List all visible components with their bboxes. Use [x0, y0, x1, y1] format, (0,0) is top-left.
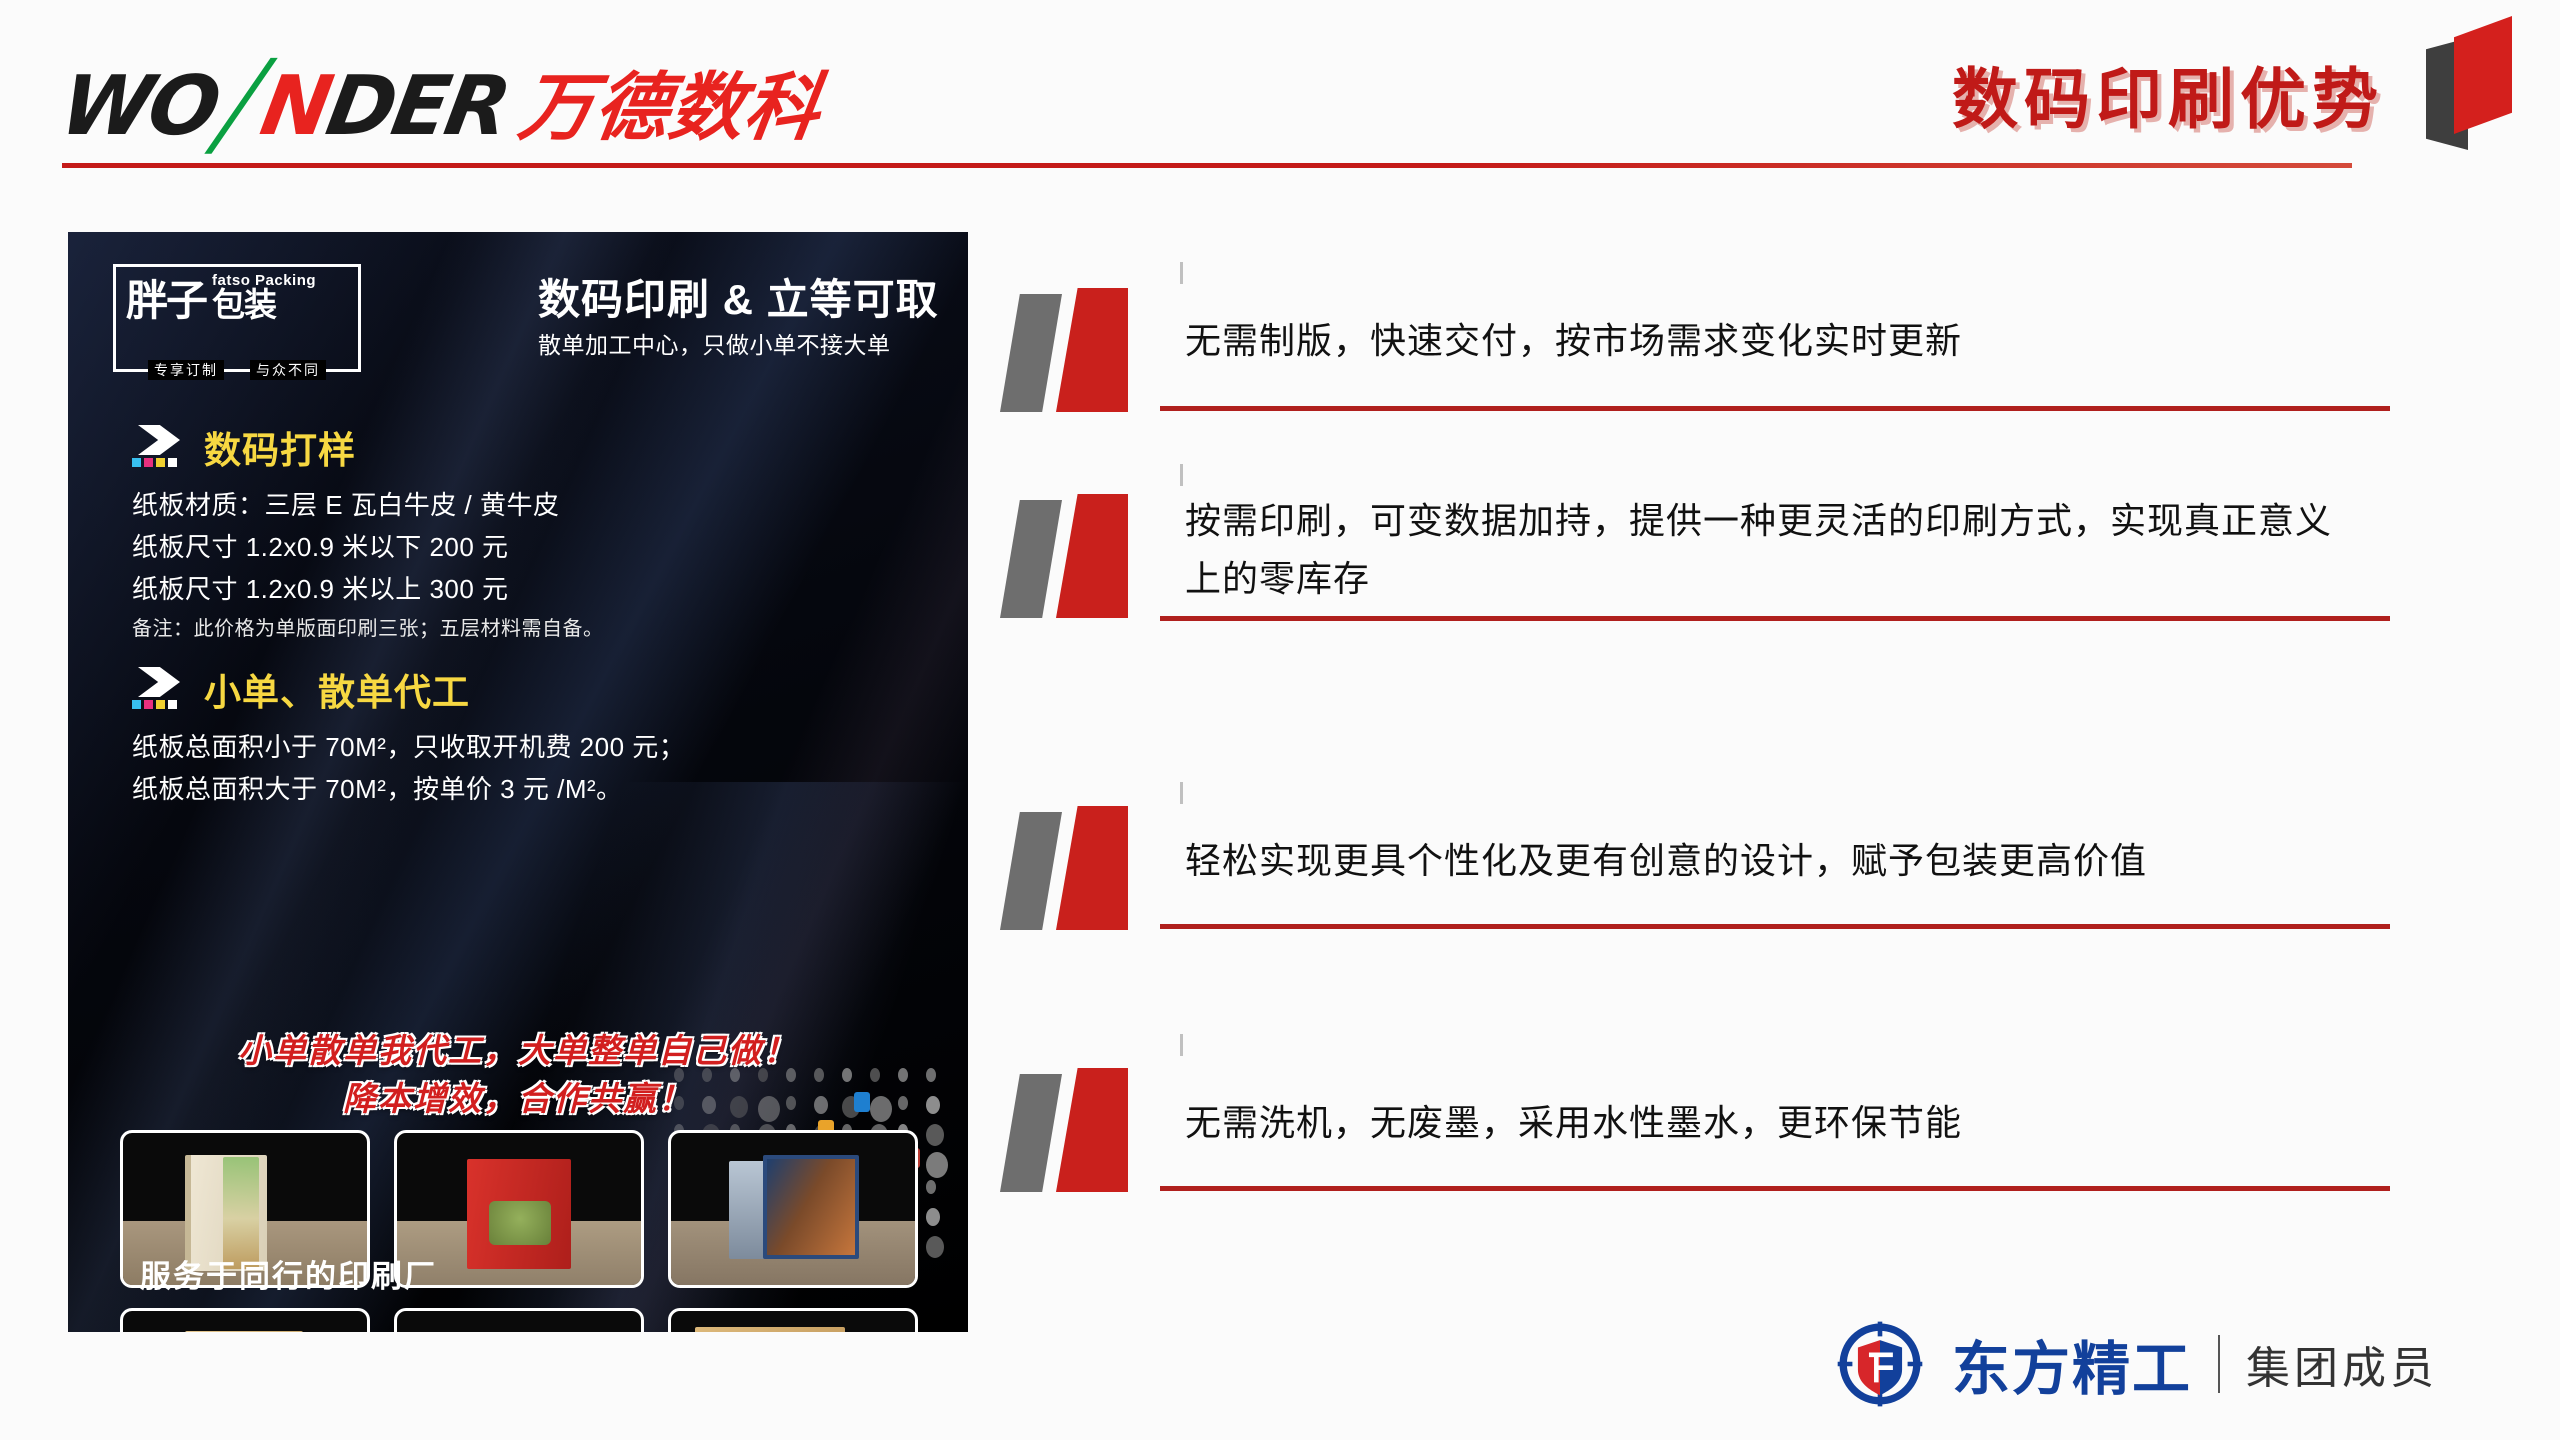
- poster-section-2-title-row: 小单、散单代工: [132, 662, 685, 716]
- advantage-item-1: 无需制版，快速交付，按市场需求变化实时更新: [1000, 240, 2400, 420]
- poster-section-1-title-row: 数码打样: [132, 420, 604, 474]
- poster-section-1-line-1: 纸板材质：三层 E 瓦白牛皮 / 黄牛皮: [132, 484, 604, 526]
- brand-logo: WO╱NDER 万德数科: [62, 52, 820, 148]
- photo-box-body: [695, 1327, 845, 1332]
- wonder-wordmark: WO╱NDER: [55, 66, 514, 148]
- group-member-logo: 东方精工 集团成员: [1834, 1318, 2438, 1410]
- halftone-dot: [870, 1068, 880, 1082]
- poster-section-1-note: 备注：此价格为单版面印刷三张；五层材料需自备。: [132, 610, 604, 648]
- advantage-item-4: 无需洗机，无废墨，采用水性墨水，更环保节能: [1000, 1012, 2400, 1232]
- photo-box-art: [489, 1201, 551, 1245]
- halftone-dot: [702, 1068, 712, 1082]
- chevron-icon: [132, 667, 188, 711]
- photo-box-body: [185, 1331, 303, 1332]
- advantage-underline-2: [1160, 616, 2390, 621]
- fatso-logo-cn2: 包装: [212, 288, 316, 322]
- chevron-dot-yellow: [156, 700, 165, 709]
- chevron-icon: [132, 425, 188, 469]
- bullet-gray-shape: [1000, 500, 1062, 618]
- fatso-logo-right: fatso Packing 包装: [212, 273, 316, 322]
- advantage-text-3: 轻松实现更具个性化及更有创意的设计，赋予包装更高价值: [1185, 832, 2365, 890]
- advantage-underline-1: [1160, 406, 2390, 411]
- advantage-text-2: 按需印刷，可变数据加持，提供一种更灵活的印刷方式，实现真正意义上的零库存: [1185, 492, 2365, 608]
- halftone-dot: [870, 1096, 892, 1122]
- chevron-arrow: [138, 425, 180, 455]
- poster-section-1-title: 数码打样: [204, 420, 356, 474]
- halftone-dot: [702, 1096, 716, 1114]
- halftone-dot: [786, 1096, 796, 1110]
- fatso-logo-main: 胖子 fatso Packing 包装: [126, 273, 350, 322]
- photo-box-front: [763, 1155, 859, 1259]
- advantage-text-4: 无需洗机，无废墨，采用水性墨水，更环保节能: [1185, 1094, 2365, 1152]
- advantages-list: 无需制版，快速交付，按市场需求变化实时更新 按需印刷，可变数据加持，提供一种更灵…: [1000, 240, 2400, 1260]
- poster-section-2-title: 小单、散单代工: [204, 662, 470, 716]
- halftone-dot: [758, 1068, 768, 1082]
- chevron-dot-white: [168, 458, 177, 467]
- bullet-red-shape: [1056, 1068, 1128, 1192]
- chevron-dot-cyan: [132, 458, 141, 467]
- fatso-packing-logo: 胖子 fatso Packing 包装 专享订制 与众不同: [113, 264, 361, 372]
- advantage-item-2: 按需印刷，可变数据加持，提供一种更灵活的印刷方式，实现真正意义上的零库存: [1000, 448, 2400, 718]
- promo-poster-image: 胖子 fatso Packing 包装 专享订制 与众不同 数码印刷 & 立等可…: [68, 232, 968, 1332]
- poster-section-proofing: 数码打样 纸板材质：三层 E 瓦白牛皮 / 黄牛皮 纸板尺寸 1.2x0.9 米…: [132, 420, 604, 648]
- halftone-dot: [926, 1096, 940, 1114]
- advantage-item-3: 轻松实现更具个性化及更有创意的设计，赋予包装更高价值: [1000, 746, 2400, 984]
- poster-section-2-lines: 纸板总面积小于 70M²，只收取开机费 200 元； 纸板总面积大于 70M²，…: [132, 726, 685, 810]
- chevron-dot-magenta: [144, 458, 153, 467]
- halftone-dot: [674, 1068, 684, 1082]
- dongfang-jinggong-icon: [1834, 1318, 1926, 1410]
- corner-red-shape: [2454, 16, 2512, 134]
- halftone-dot: [926, 1124, 944, 1146]
- dongfang-jinggong-name: 东方精工: [1952, 1322, 2192, 1406]
- product-photo-kraft-handle-box: [120, 1308, 370, 1332]
- bullet-red-shape: [1056, 806, 1128, 930]
- bullet-chevron-icon: [1000, 1068, 1170, 1196]
- chevron-dot-white: [168, 700, 177, 709]
- tick-marker: [1180, 464, 1183, 486]
- halftone-dot: [814, 1096, 828, 1114]
- footer-divider: [2218, 1335, 2220, 1393]
- poster-section-oem: 小单、散单代工 纸板总面积小于 70M²，只收取开机费 200 元； 纸板总面积…: [132, 662, 685, 810]
- halftone-dot: [926, 1208, 940, 1226]
- product-photo-grid: [120, 1130, 920, 1332]
- bullet-red-shape: [1056, 288, 1128, 412]
- bullet-gray-shape: [1000, 812, 1062, 930]
- page-title: 数码印刷优势: [1952, 46, 2384, 142]
- poster-subheadline: 散单加工中心，只做小单不接大单: [538, 326, 939, 364]
- bullet-chevron-icon: [1000, 288, 1170, 416]
- product-photo-row: [120, 1308, 920, 1332]
- advantage-underline-3: [1160, 924, 2390, 929]
- group-member-label: 集团成员: [2246, 1332, 2438, 1396]
- chevron-dot-yellow: [156, 458, 165, 467]
- product-photo-classic-boxes: [394, 1308, 644, 1332]
- advantage-underline-4: [1160, 1186, 2390, 1191]
- bullet-chevron-icon: [1000, 806, 1170, 934]
- halftone-dot: [926, 1068, 936, 1082]
- bullet-red-shape: [1056, 494, 1128, 618]
- fatso-tag-right: 与众不同: [250, 360, 326, 380]
- bullet-gray-shape: [1000, 1074, 1062, 1192]
- halftone-dot: [898, 1068, 908, 1082]
- wonder-wo: WO: [54, 59, 225, 154]
- fatso-logo-tags: 专享订制 与众不同: [116, 360, 358, 380]
- halftone-dot: [814, 1068, 824, 1082]
- halftone-dot: [926, 1152, 948, 1178]
- halftone-dot: [926, 1180, 936, 1194]
- corner-decoration-icon: [2426, 0, 2536, 160]
- poster-section-1-lines: 纸板材质：三层 E 瓦白牛皮 / 黄牛皮 纸板尺寸 1.2x0.9 米以下 20…: [132, 484, 604, 648]
- halftone-dot: [674, 1096, 684, 1110]
- tick-marker: [1180, 782, 1183, 804]
- product-photo-beef-carton: [668, 1130, 918, 1288]
- fatso-tag-left: 专享订制: [148, 360, 224, 380]
- poster-section-2-line-1: 纸板总面积小于 70M²，只收取开机费 200 元；: [132, 726, 685, 768]
- halftone-dot: [926, 1236, 944, 1258]
- halftone-dot: [786, 1068, 796, 1082]
- poster-section-1-line-2: 纸板尺寸 1.2x0.9 米以下 200 元: [132, 526, 604, 568]
- tick-marker: [1180, 262, 1183, 284]
- brand-cn-wordmark: 万德数科: [515, 68, 826, 148]
- poster-headline-group: 数码印刷 & 立等可取 散单加工中心，只做小单不接大单: [538, 274, 939, 364]
- wonder-der: DER: [320, 59, 515, 154]
- advantage-text-1: 无需制版，快速交付，按市场需求变化实时更新: [1185, 312, 2365, 370]
- halftone-dot: [730, 1096, 748, 1118]
- fatso-logo-cn: 胖子: [126, 280, 206, 322]
- bullet-chevron-icon: [1000, 494, 1170, 622]
- poster-footer-text: 服务于同行的印刷厂: [140, 1251, 437, 1296]
- product-photo-large-scenery-carton: [668, 1308, 918, 1332]
- halftone-dot: [898, 1096, 908, 1110]
- poster-section-1-line-3: 纸板尺寸 1.2x0.9 米以上 300 元: [132, 568, 604, 610]
- halftone-dot: [730, 1068, 740, 1082]
- halftone-dot: [842, 1068, 852, 1082]
- poster-section-2-line-2: 纸板总面积大于 70M²，按单价 3 元 /M²。: [132, 768, 685, 810]
- poster-headline: 数码印刷 & 立等可取: [538, 274, 939, 326]
- chevron-arrow: [138, 667, 180, 697]
- tick-marker: [1180, 1034, 1183, 1056]
- halftone-dot: [758, 1096, 780, 1122]
- slide: WO╱NDER 万德数科 数码印刷优势 胖子 fatso Packing 包装 …: [0, 0, 2560, 1440]
- halftone-accent-dot: [854, 1092, 870, 1112]
- chevron-dot-magenta: [144, 700, 153, 709]
- bullet-gray-shape: [1000, 294, 1062, 412]
- photo-box-side: [729, 1161, 765, 1259]
- header-divider: [62, 163, 2352, 168]
- chevron-dot-cyan: [132, 700, 141, 709]
